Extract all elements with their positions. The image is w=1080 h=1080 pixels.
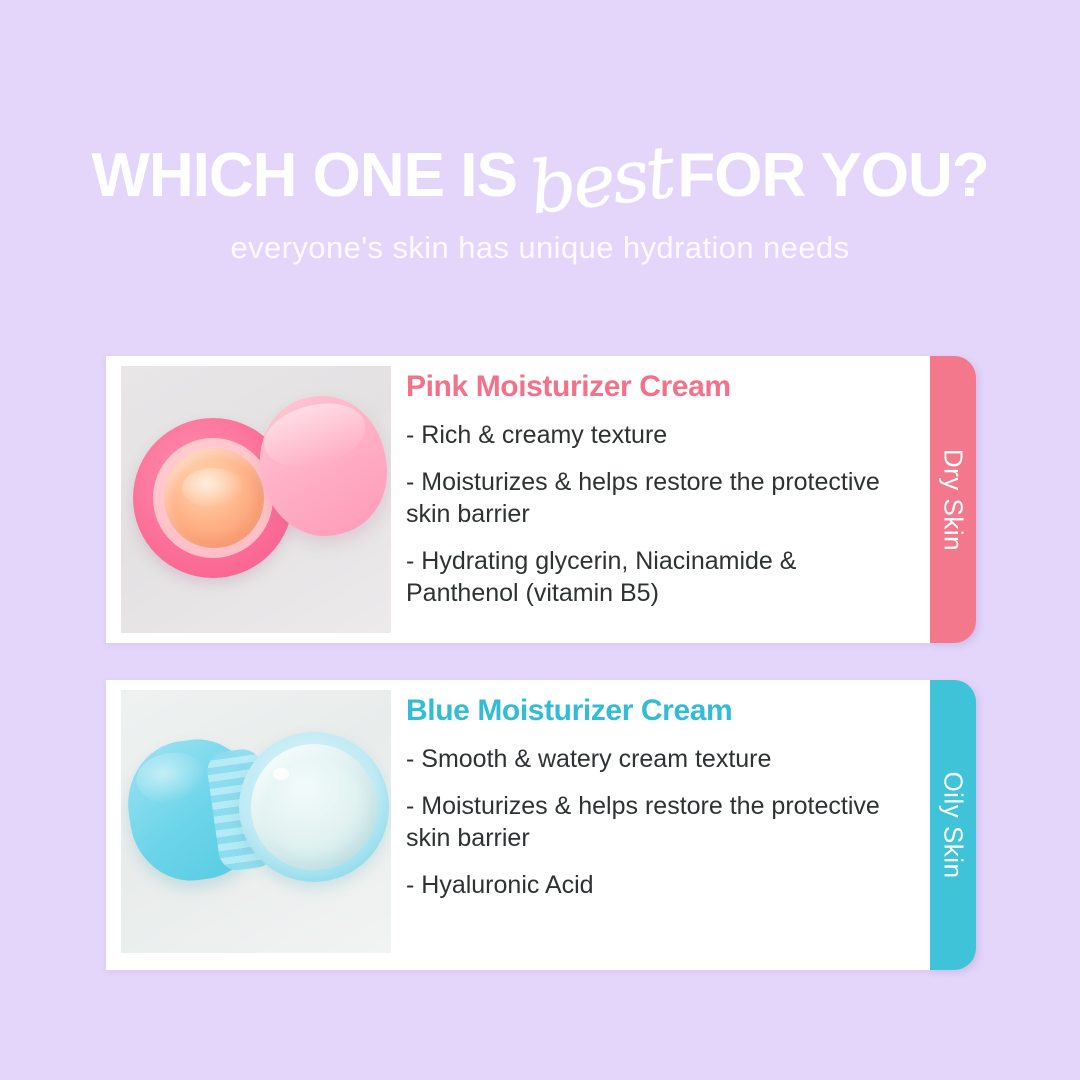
product-card-blue[interactable]: Blue Moisturizer Cream - Smooth & watery… — [106, 680, 934, 970]
product-card-pink[interactable]: Pink Moisturizer Cream - Rich & creamy t… — [106, 356, 934, 643]
pink-cream-icon — [164, 448, 264, 548]
blue-cream-bubble-icon — [273, 768, 289, 780]
blue-card-title: Blue Moisturizer Cream — [406, 694, 926, 727]
pink-card-title: Pink Moisturizer Cream — [406, 370, 926, 403]
list-item: - Moisturizes & helps restore the protec… — [406, 466, 886, 531]
pink-card-body: Pink Moisturizer Cream - Rich & creamy t… — [406, 370, 926, 624]
list-item: - Rich & creamy texture — [406, 419, 886, 452]
list-item: - Smooth & watery cream texture — [406, 743, 886, 776]
skin-type-tab-dry-label: Dry Skin — [938, 448, 969, 550]
blue-jar-photo — [121, 690, 391, 953]
blue-card-body: Blue Moisturizer Cream - Smooth & watery… — [406, 694, 926, 915]
skin-type-tab-oily[interactable]: Oily Skin — [930, 680, 976, 970]
headline-part-2: FOR YOU? — [677, 145, 988, 207]
page-subheadline: everyone's skin has unique hydration nee… — [0, 230, 1080, 266]
list-item: - Hyaluronic Acid — [406, 869, 886, 902]
blue-cream-icon — [251, 744, 377, 870]
skin-type-tab-dry[interactable]: Dry Skin — [930, 356, 976, 643]
headline-script-word: best — [525, 136, 675, 225]
list-item: - Hydrating glycerin, Niacinamide & Pant… — [406, 545, 886, 610]
pink-jar-photo — [121, 366, 391, 633]
skin-type-tab-oily-label: Oily Skin — [938, 771, 969, 878]
headline-part-1: WHICH ONE IS — [91, 145, 516, 207]
list-item: - Moisturizes & helps restore the protec… — [406, 790, 886, 855]
page-headline: WHICH ONE ISbestFOR YOU? — [0, 140, 1080, 212]
